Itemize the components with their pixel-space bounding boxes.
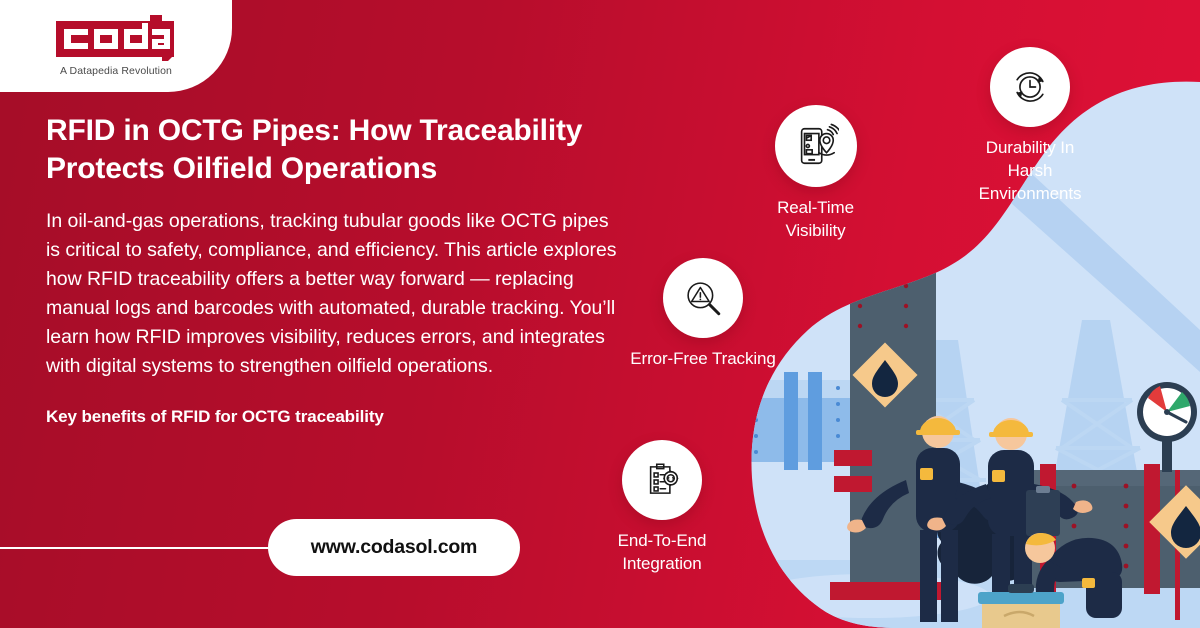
coda-logo-icon — [56, 15, 176, 61]
banner-canvas: A Datapedia Revolution RFID in OCTG Pipe… — [0, 0, 1200, 628]
brand-logo-badge[interactable]: A Datapedia Revolution — [0, 0, 232, 92]
clipboard-gear-icon — [641, 459, 683, 501]
brand-tagline: A Datapedia Revolution — [60, 65, 172, 77]
hero-text-column: RFID in OCTG Pipes: How Traceability Pro… — [46, 112, 626, 427]
benefit-real-time-visibility[interactable]: Real-Time Visibility — [752, 105, 879, 243]
page-title: RFID in OCTG Pipes: How Traceability Pro… — [46, 112, 626, 188]
smartphone-location-signal-icon — [793, 123, 839, 169]
benefit-label: Error-Free Tracking — [610, 348, 796, 371]
benefit-error-free-tracking[interactable]: Error-Free Tracking — [610, 258, 796, 371]
magnifier-warning-icon — [682, 277, 724, 319]
benefit-end-to-end-integration[interactable]: End-To-End Integration — [584, 440, 740, 576]
benefit-durability-harsh-environments[interactable]: Durability In Harsh Environments — [960, 47, 1100, 206]
hero-description: In oil-and-gas operations, tracking tubu… — [46, 207, 626, 381]
benefit-label: Real-Time Visibility — [752, 197, 879, 243]
benefit-icon-disc — [775, 105, 857, 187]
benefit-label: End-To-End Integration — [584, 530, 740, 576]
benefit-icon-disc — [663, 258, 743, 338]
clipboard — [1026, 490, 1060, 536]
website-url-button[interactable]: www.codasol.com — [268, 519, 520, 576]
hero-subheading: Key benefits of RFID for OCTG traceabili… — [46, 407, 626, 427]
benefit-icon-disc — [990, 47, 1070, 127]
benefit-icon-disc — [622, 440, 702, 520]
divider-rule — [0, 547, 272, 549]
clock-refresh-icon — [1008, 65, 1052, 109]
benefit-label: Durability In Harsh Environments — [960, 137, 1100, 206]
